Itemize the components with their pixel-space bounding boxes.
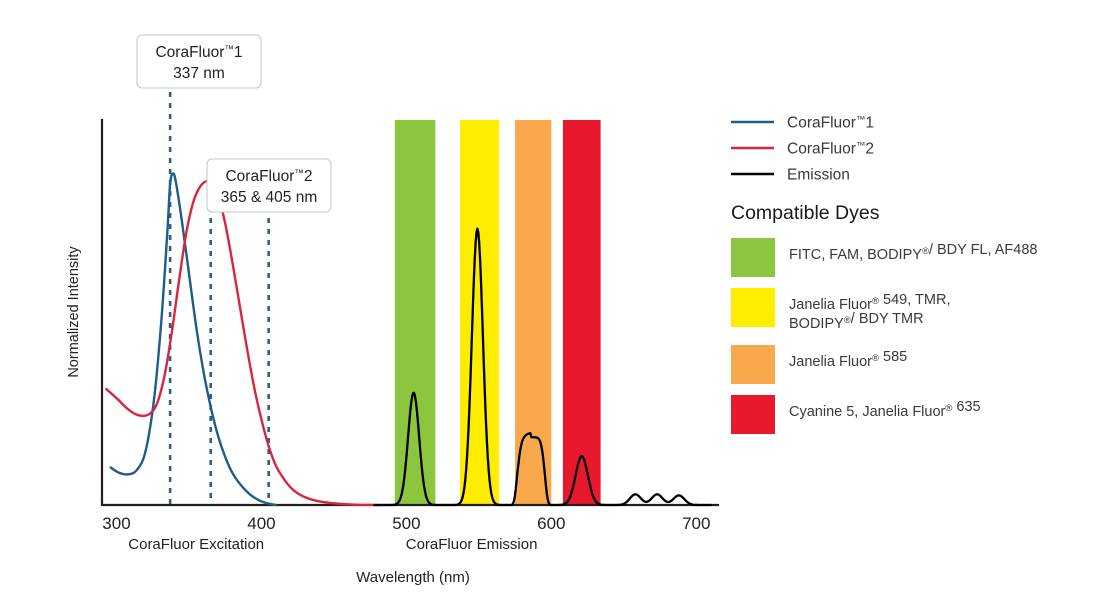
legend-entry: Emission bbox=[731, 167, 850, 184]
series-legend: CoraFluor™1CoraFluor™2Emission bbox=[731, 115, 874, 184]
y-axis-title: Normalized Intensity bbox=[66, 246, 82, 378]
curve-excitation-365 bbox=[106, 180, 377, 505]
dye-label: Janelia Fluor® 549, TMR, bbox=[789, 292, 950, 313]
compatible-dyes-list: FITC, FAM, BODIPY®/ BDY FL, AF488Janelia… bbox=[731, 238, 1037, 434]
x-tick-label: 700 bbox=[682, 514, 710, 533]
x-tick-label: 400 bbox=[247, 514, 275, 533]
region-label: CoraFluor Excitation bbox=[128, 536, 264, 553]
x-tick-label: 600 bbox=[537, 514, 565, 533]
dye-entry: FITC, FAM, BODIPY®/ BDY FL, AF488 bbox=[731, 238, 1037, 277]
green-band bbox=[395, 120, 436, 505]
dye-label: FITC, FAM, BODIPY®/ BDY FL, AF488 bbox=[789, 242, 1037, 263]
yellow-band bbox=[460, 120, 499, 505]
x-axis-title: Wavelength (nm) bbox=[356, 569, 470, 586]
dye-label: Janelia Fluor® 585 bbox=[789, 349, 907, 370]
x-axis-ticks: 300400500600700 bbox=[102, 514, 710, 533]
legend-entry-label: CoraFluor™1 bbox=[787, 115, 874, 132]
x-tick-label: 500 bbox=[392, 514, 420, 533]
callout-annotations: CoraFluor™1337 nmCoraFluor™2365 & 405 nm bbox=[137, 35, 331, 212]
x-tick-label: 300 bbox=[102, 514, 130, 533]
curve-excitation-337 bbox=[111, 173, 276, 505]
corafluor1-callout-line2: 337 nm bbox=[173, 65, 225, 82]
dye-entry: Janelia Fluor® 585 bbox=[731, 345, 907, 384]
legend-entry: CoraFluor™2 bbox=[731, 141, 874, 158]
spectra-figure: 300400500600700 CoraFluor ExcitationCora… bbox=[0, 0, 1110, 612]
region-labels: CoraFluor ExcitationCoraFluor Emission bbox=[128, 536, 537, 553]
corafluor2-callout: CoraFluor™2365 & 405 nm bbox=[207, 159, 331, 212]
legend-entry: CoraFluor™1 bbox=[731, 115, 874, 132]
color-bands bbox=[395, 120, 601, 505]
corafluor2-callout-line2: 365 & 405 nm bbox=[221, 189, 318, 206]
dye-color-swatch bbox=[731, 395, 775, 434]
dye-label: Cyanine 5, Janelia Fluor® 635 bbox=[789, 399, 981, 420]
compatible-dyes-heading: Compatible Dyes bbox=[731, 202, 880, 224]
red-band bbox=[563, 120, 601, 505]
corafluor1-callout: CoraFluor™1337 nm bbox=[137, 35, 261, 88]
dye-entry: Cyanine 5, Janelia Fluor® 635 bbox=[731, 395, 981, 434]
legend-entry-label: Emission bbox=[787, 167, 850, 184]
dye-color-swatch bbox=[731, 345, 775, 384]
dye-entry: Janelia Fluor® 549, TMR,BODIPY®/ BDY TMR bbox=[731, 288, 950, 332]
dye-color-swatch bbox=[731, 238, 775, 277]
dye-label: BODIPY®/ BDY TMR bbox=[789, 311, 924, 332]
region-label: CoraFluor Emission bbox=[406, 536, 538, 553]
legend-entry-label: CoraFluor™2 bbox=[787, 141, 874, 158]
dye-color-swatch bbox=[731, 288, 775, 327]
